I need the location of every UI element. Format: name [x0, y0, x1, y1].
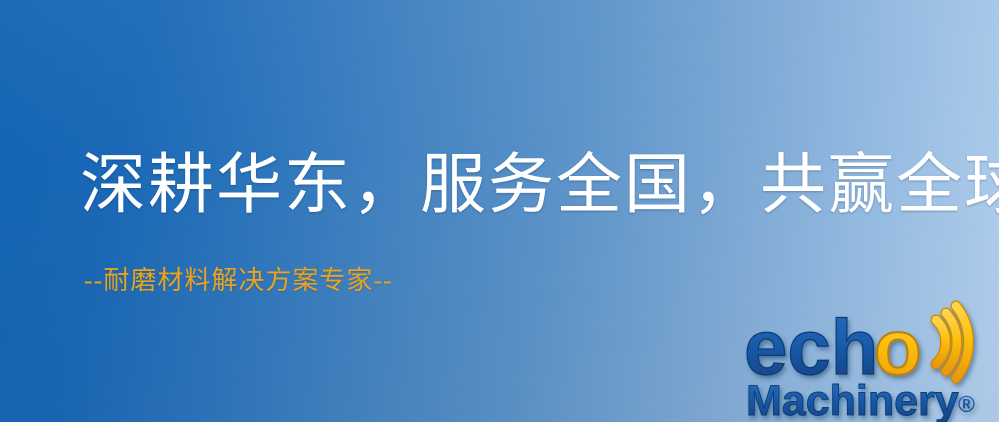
echo-machinery-logo[interactable]: ech o Machinery ®	[740, 292, 999, 422]
banner-subtitle: --耐磨材料解决方案专家--	[84, 264, 393, 298]
echo-arc-icon	[936, 306, 969, 378]
logo-text-machinery: Machinery	[746, 377, 959, 422]
banner-headline: 深耕华东，服务全国，共赢全球	[80, 146, 999, 226]
hero-banner: 深耕华东，服务全国，共赢全球 --耐磨材料解决方案专家--	[0, 0, 999, 422]
logo-trademark-icon: ®	[958, 391, 975, 417]
